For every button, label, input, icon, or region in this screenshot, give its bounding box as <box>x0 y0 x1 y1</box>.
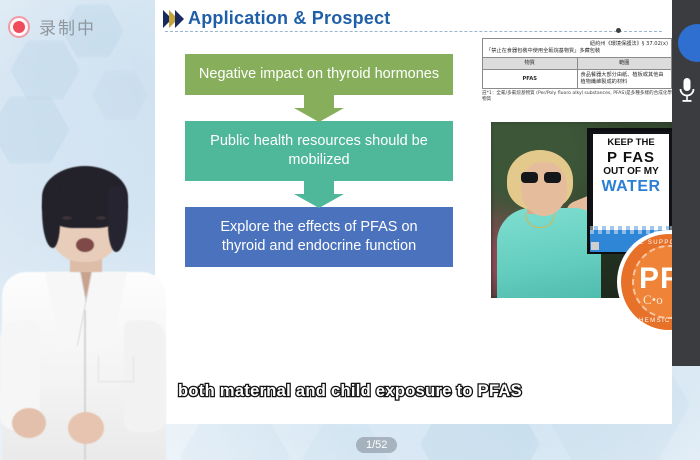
subtitle-caption: both maternal and child exposure to PFAS <box>0 382 700 401</box>
recording-label: 录制中 <box>39 14 96 39</box>
flow-box-1: Negative impact on thyroid hormones <box>185 54 453 95</box>
microphone-icon[interactable] <box>677 76 697 104</box>
record-dot-icon <box>8 16 30 38</box>
table-cell-substance-name: PFAS <box>483 70 578 89</box>
sign-line-1: KEEP THE <box>596 138 666 148</box>
presenter-hand-left <box>12 408 46 438</box>
slide-title-row: Application & Prospect <box>163 8 390 29</box>
photo-woman-face <box>521 162 567 216</box>
presenter-mouth <box>76 238 94 252</box>
regulation-table: 紐約州《環境保護法》§ 37.02(x) 「禁止在食器包裝中使用全氟烷基物質」多… <box>482 38 672 103</box>
sign-line-2: P FAS <box>596 150 666 165</box>
presenter-hair-side-left <box>42 186 60 248</box>
table-header-line2: 「禁止在食器包裝中使用全氟烷基物質」多藏包裝 <box>486 48 668 55</box>
participant-avatar[interactable] <box>678 24 700 62</box>
presenter-hair-side-right <box>108 186 128 252</box>
sunglasses-icon <box>521 172 563 183</box>
flow-box-3: Explore the effects of PFAS on thyroid a… <box>185 207 453 267</box>
sign-line-3: OUT OF MY <box>596 167 666 177</box>
flow-box-2: Public health resources should be mobili… <box>185 121 453 181</box>
page-indicator: 1/52 <box>356 437 397 453</box>
recording-indicator: 录制中 <box>8 14 96 39</box>
table-header-line1: 紐約州《環境保護法》§ 37.02(x) <box>590 41 668 47</box>
flow-arrow-1-icon <box>185 95 453 121</box>
presenter-video <box>0 160 168 460</box>
table-col-scope: 範圍 <box>577 58 672 70</box>
title-divider <box>165 31 662 32</box>
chevron-right-icon <box>163 10 181 28</box>
presenter-coat-pocket <box>98 356 134 382</box>
table-cell-scope: 食品餐器大部分由紙、植板或其他由植物纖維製成的材料 <box>577 70 672 89</box>
badge-sub-text: C•o <box>643 292 663 308</box>
page-title: Application & Prospect <box>188 8 390 29</box>
presenter-hand-right <box>68 412 104 444</box>
table-footnote: 註*1：全氟/多氟烷基物質 (Per/Poly fluoro alkyl sub… <box>482 91 672 103</box>
flow-arrow-2-icon <box>185 181 453 207</box>
sign-line-4: WATER <box>596 179 666 195</box>
flowchart: Negative impact on thyroid hormones Publ… <box>185 54 453 267</box>
presenter-eye-right <box>96 216 106 220</box>
table-row: PFAS 食品餐器大部分由紙、植板或其他由植物纖維製成的材料 <box>483 70 672 89</box>
presenter-eye-left <box>62 216 72 220</box>
presentation-slide[interactable]: Application & Prospect Negative impact o… <box>155 0 672 424</box>
meeting-sidebar[interactable] <box>672 0 700 366</box>
table-col-substance: 物質 <box>483 58 578 70</box>
table-header-cell: 紐約州《環境保護法》§ 37.02(x) 「禁止在食器包裝中使用全氟烷基物質」多… <box>483 39 672 58</box>
title-bullet-dot <box>616 28 621 33</box>
sign-logo-mark <box>591 242 599 250</box>
